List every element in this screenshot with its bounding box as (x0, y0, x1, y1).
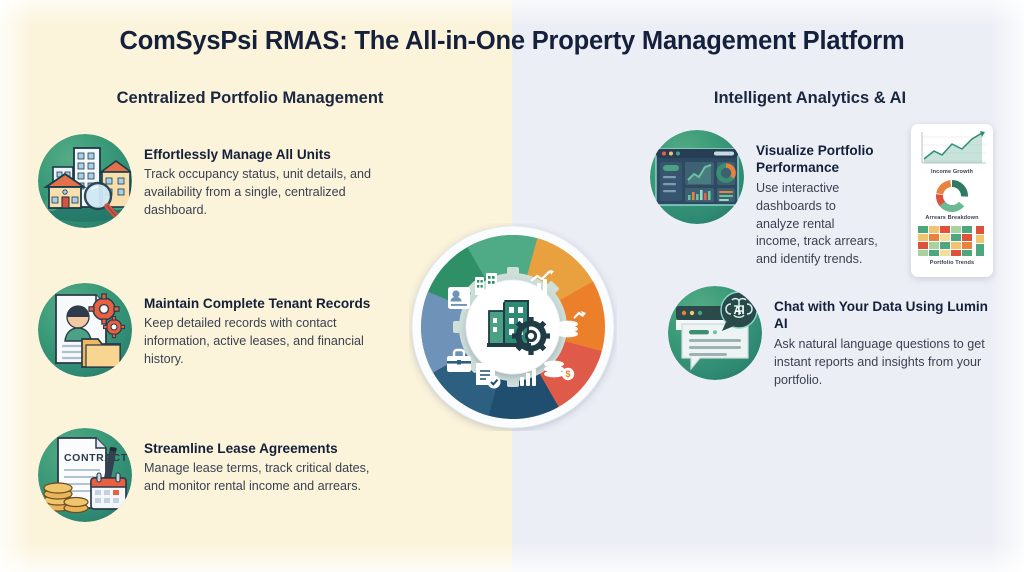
left-column-heading: Centralized Portfolio Management (40, 89, 460, 108)
wheel-svg: $ (409, 223, 617, 431)
mini-dashboard-card: Income Growth Arrears Breakdown (911, 124, 993, 277)
feature-title: Visualize Portfolio Performance (756, 142, 878, 177)
mini-chart-label: Arrears Breakdown (916, 215, 988, 221)
svg-text:AI: AI (734, 305, 745, 317)
buildings-search-icon (38, 134, 132, 228)
page-title: ComSysPsi RMAS: The All-in-One Property … (0, 27, 1024, 56)
feature-item: AI Chat with Your Data Using Lumin AI As… (668, 286, 996, 389)
right-column-heading: Intelligent Analytics & AI (600, 89, 1020, 108)
heatmap-icon (916, 224, 988, 258)
analytics-dashboard-icon (650, 130, 744, 224)
mini-chart-block: Arrears Breakdown (916, 178, 988, 222)
tenant-record-folder-icon (38, 283, 132, 377)
svg-text:$: $ (565, 369, 570, 379)
contract-glyph: CONTRACT (38, 428, 132, 522)
tenant-record-glyph (38, 283, 132, 377)
feature-item: Maintain Complete Tenant Records Keep de… (38, 283, 384, 377)
donut-chart-icon (916, 178, 988, 214)
infographic-canvas: ComSysPsi RMAS: The All-in-One Property … (0, 0, 1024, 572)
chat-ai-glyph: AI (668, 286, 762, 380)
feature-item: Effortlessly Manage All Units Track occu… (38, 134, 384, 228)
feature-body: Keep detailed records with contact infor… (144, 315, 384, 369)
buildings-search-glyph (38, 134, 132, 228)
dashboard-glyph (650, 130, 744, 224)
feature-title: Chat with Your Data Using Lumin AI (774, 298, 996, 333)
feature-copy: Visualize Portfolio Performance Use inte… (756, 130, 878, 269)
feature-body: Ask natural language questions to get in… (774, 336, 996, 390)
feature-title: Effortlessly Manage All Units (144, 146, 384, 163)
feature-body: Track occupancy status, unit details, an… (144, 166, 384, 220)
contract-calendar-coins-icon: CONTRACT (38, 428, 132, 522)
feature-title: Maintain Complete Tenant Records (144, 295, 384, 312)
line-chart-icon (916, 129, 988, 167)
feature-copy: Effortlessly Manage All Units Track occu… (144, 134, 384, 220)
mini-chart-block: Income Growth (916, 129, 988, 175)
feature-copy: Streamline Lease Agreements Manage lease… (144, 428, 384, 496)
feature-body: Manage lease terms, track critical dates… (144, 460, 384, 496)
feature-copy: Chat with Your Data Using Lumin AI Ask n… (774, 286, 996, 389)
svg-text:CONTRACT: CONTRACT (64, 452, 128, 464)
feature-item: CONTRACT (38, 428, 384, 522)
feature-copy: Maintain Complete Tenant Records Keep de… (144, 283, 384, 369)
mini-chart-label: Portfolio Trends (916, 260, 988, 266)
chat-ai-brain-icon: AI (668, 286, 762, 380)
feature-item: Visualize Portfolio Performance Use inte… (650, 130, 878, 269)
feature-body: Use interactive dashboards to analyze re… (756, 180, 878, 269)
mini-chart-block: Portfolio Trends (916, 224, 988, 266)
feature-title: Streamline Lease Agreements (144, 440, 384, 457)
id-card-icon (448, 287, 470, 309)
center-wheel-diagram: $ (409, 223, 617, 431)
mini-chart-label: Income Growth (916, 169, 988, 175)
